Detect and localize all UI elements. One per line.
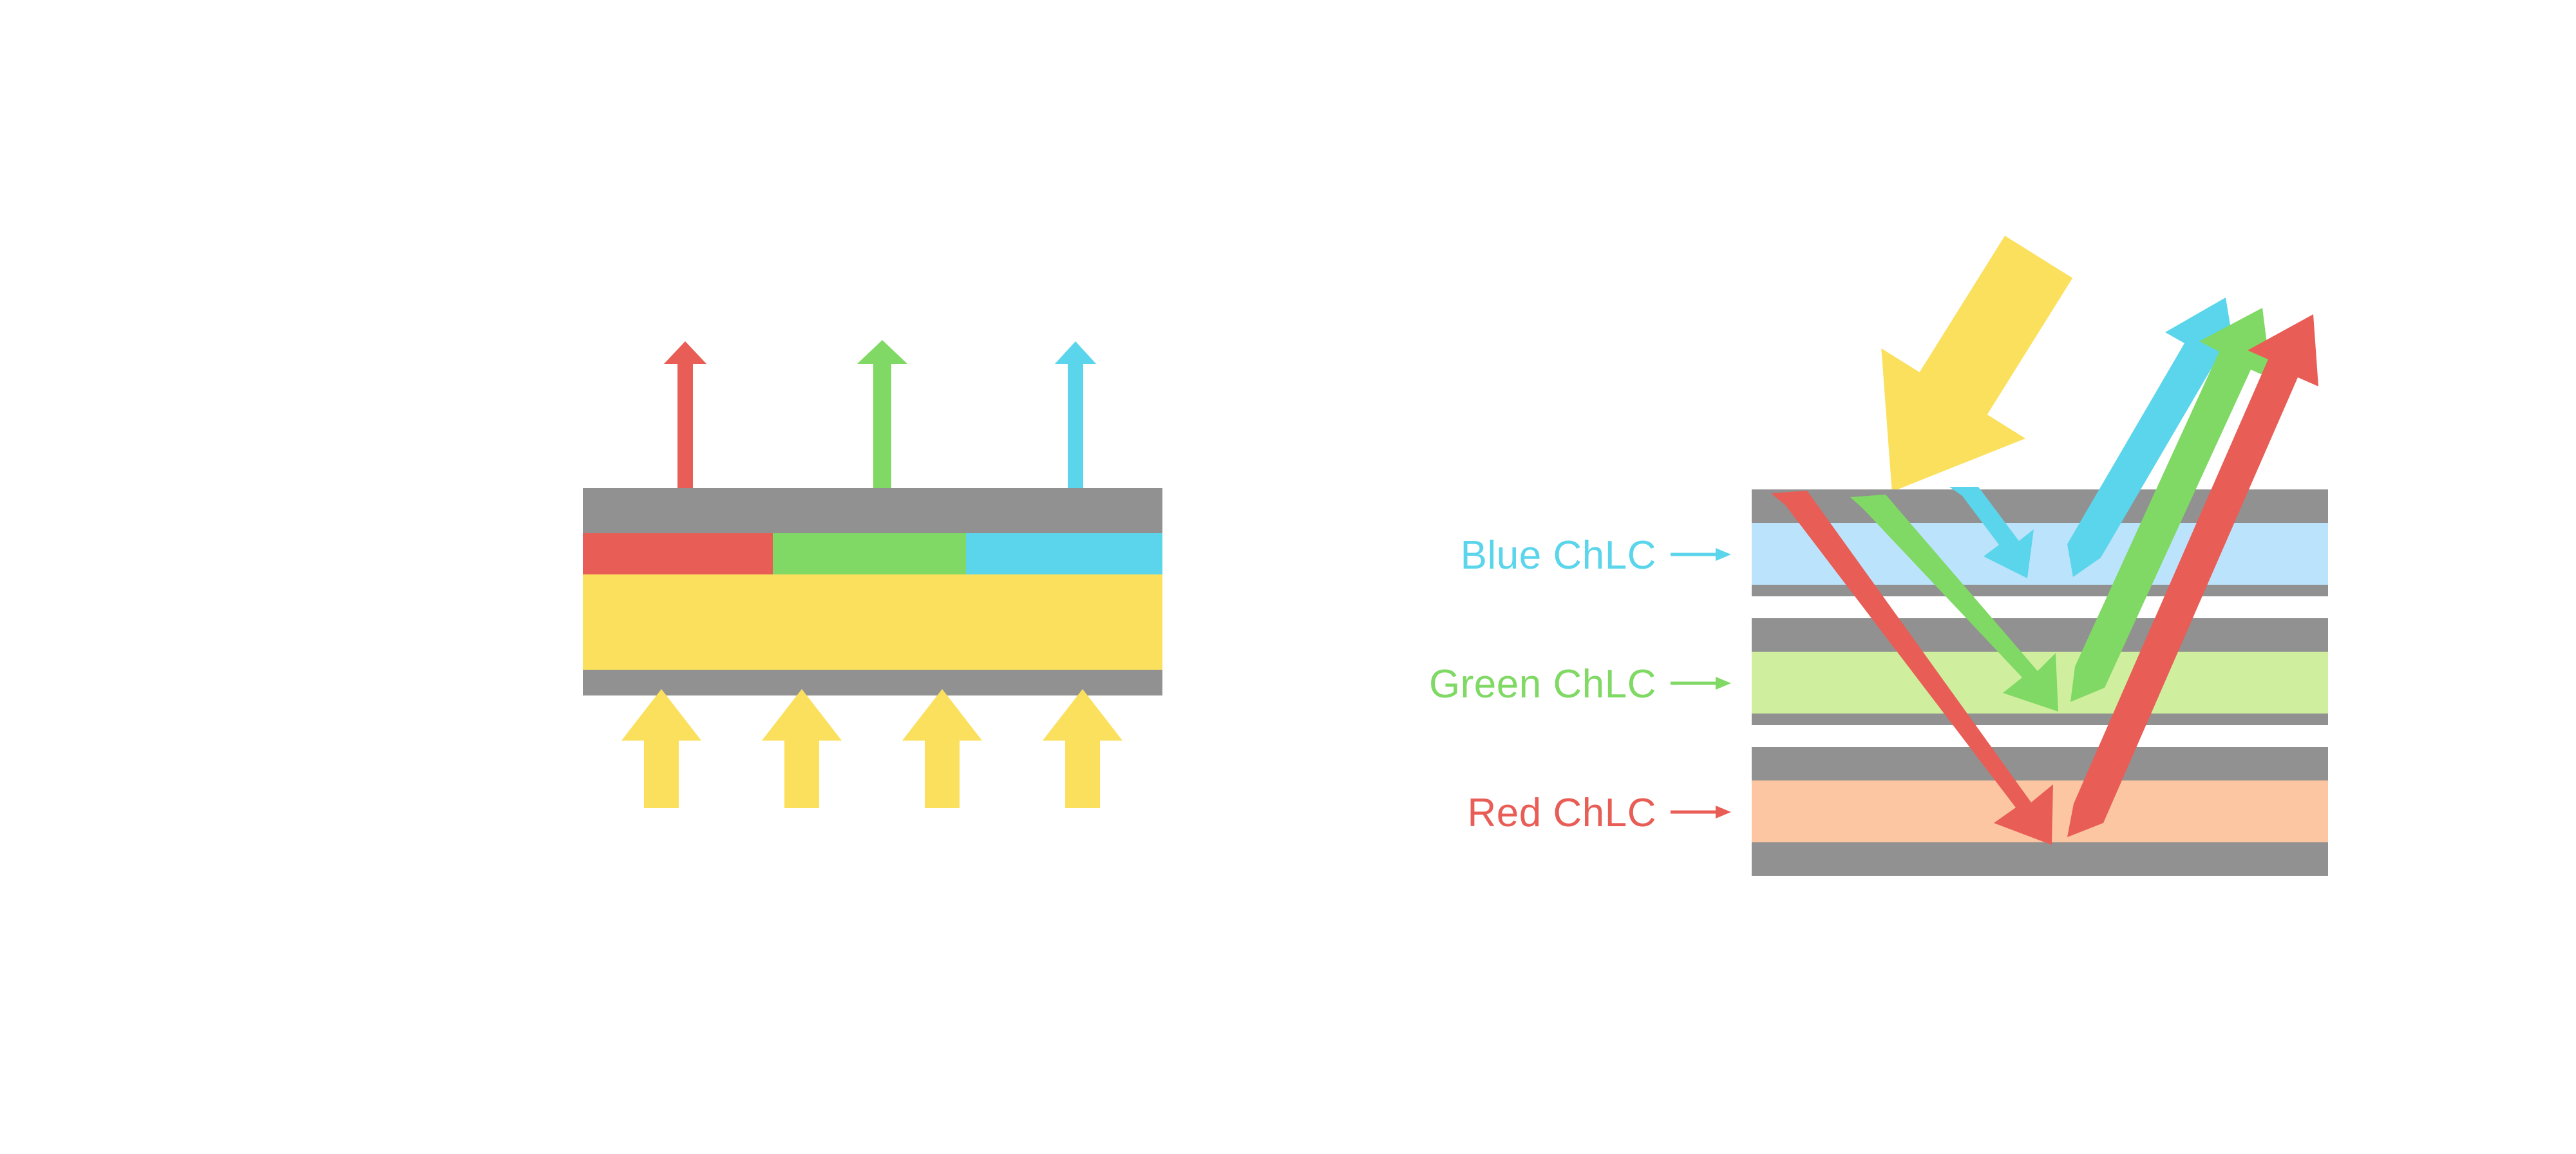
gap-blue-green xyxy=(1752,596,2328,618)
green-chlc-label: Green ChLC xyxy=(1429,665,1656,705)
backlight-arrow-1 xyxy=(621,689,701,808)
blue-chlc-label-row: Blue ChLC xyxy=(1404,533,1732,578)
left-panel-svg xyxy=(0,0,1288,1154)
backlight-arrow-4 xyxy=(1043,689,1122,808)
backlight-arrow-3 xyxy=(902,689,982,808)
red-filter xyxy=(583,533,773,574)
left-panel-color-filter-display xyxy=(0,0,1288,1154)
green-filter xyxy=(773,533,966,574)
blue-chlc-label: Blue ChLC xyxy=(1461,536,1656,576)
diagram-canvas: Blue ChLC Green ChLC Red ChLC xyxy=(0,0,2576,1154)
backlight-arrows xyxy=(621,689,1122,808)
gap-green-red xyxy=(1752,725,2328,747)
red-chlc-label-row: Red ChLC xyxy=(1410,791,1732,836)
red-cell-bottom-electrode xyxy=(1752,842,2328,876)
cyan-filter xyxy=(966,533,1162,574)
backlight-arrow-2 xyxy=(762,689,842,808)
bottom-electrode xyxy=(583,670,1162,695)
red-emitted-ray xyxy=(664,341,706,489)
red-chlc-label-arrow-icon xyxy=(1671,802,1732,825)
backlight-layer xyxy=(583,574,1162,670)
green-chlc-label-arrow-icon xyxy=(1671,674,1732,696)
cyan-emitted-ray xyxy=(1055,341,1096,489)
red-cell-top-electrode xyxy=(1752,747,2328,780)
red-chlc-label: Red ChLC xyxy=(1468,793,1656,833)
green-emitted-ray xyxy=(857,340,907,489)
green-chlc-label-row: Green ChLC xyxy=(1385,662,1732,707)
left-display-stack xyxy=(583,488,1162,695)
right-panel-chlc-stack: Blue ChLC Green ChLC Red ChLC xyxy=(1288,0,2576,1154)
blue-chlc-label-arrow-icon xyxy=(1671,545,1732,567)
top-electrode xyxy=(583,488,1162,533)
green-cell-top-electrode xyxy=(1752,618,2328,652)
